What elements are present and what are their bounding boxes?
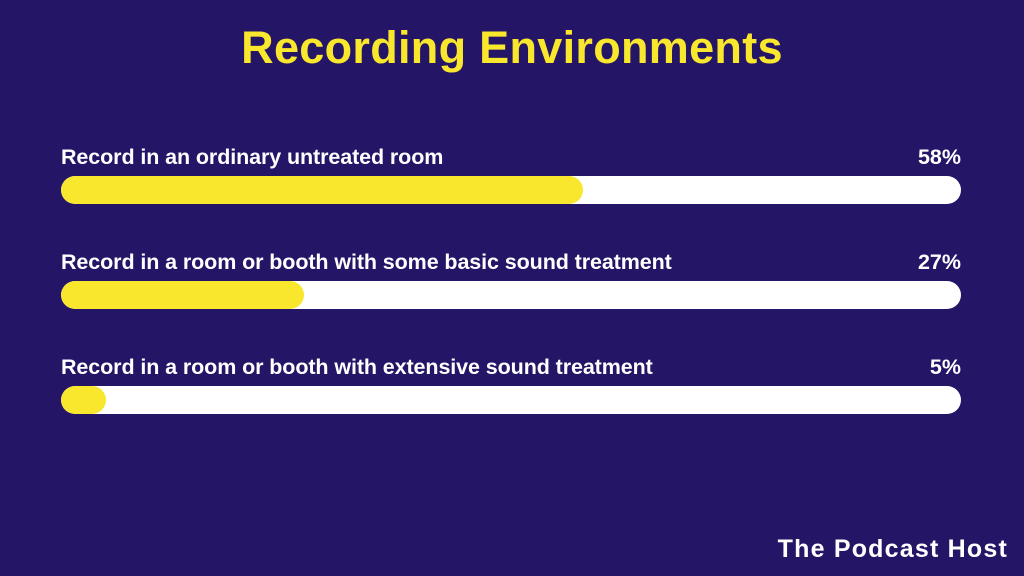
bar-track (61, 176, 961, 204)
bar-row: Record in an ordinary untreated room 58% (61, 140, 961, 204)
bar-category-label: Record in a room or booth with some basi… (61, 252, 672, 274)
bar-track (61, 281, 961, 309)
page-title: Recording Environments (0, 22, 1024, 74)
bar-fill (61, 176, 583, 204)
bar-header: Record in an ordinary untreated room 58% (61, 140, 961, 168)
brand-logo: The Podcast Host (778, 537, 1008, 562)
bar-value-label: 5% (918, 357, 961, 379)
bar-track (61, 386, 961, 414)
bar-fill (61, 386, 106, 414)
bar-chart: Record in an ordinary untreated room 58%… (61, 140, 961, 414)
bar-row: Record in a room or booth with extensive… (61, 350, 961, 414)
bar-row: Record in a room or booth with some basi… (61, 245, 961, 309)
bar-header: Record in a room or booth with extensive… (61, 350, 961, 378)
bar-value-label: 27% (906, 252, 961, 274)
bar-value-label: 58% (906, 147, 961, 169)
bar-fill (61, 281, 304, 309)
bar-category-label: Record in a room or booth with extensive… (61, 357, 653, 379)
bar-header: Record in a room or booth with some basi… (61, 245, 961, 273)
bar-category-label: Record in an ordinary untreated room (61, 147, 443, 169)
slide-canvas: Recording Environments Record in an ordi… (0, 0, 1024, 576)
